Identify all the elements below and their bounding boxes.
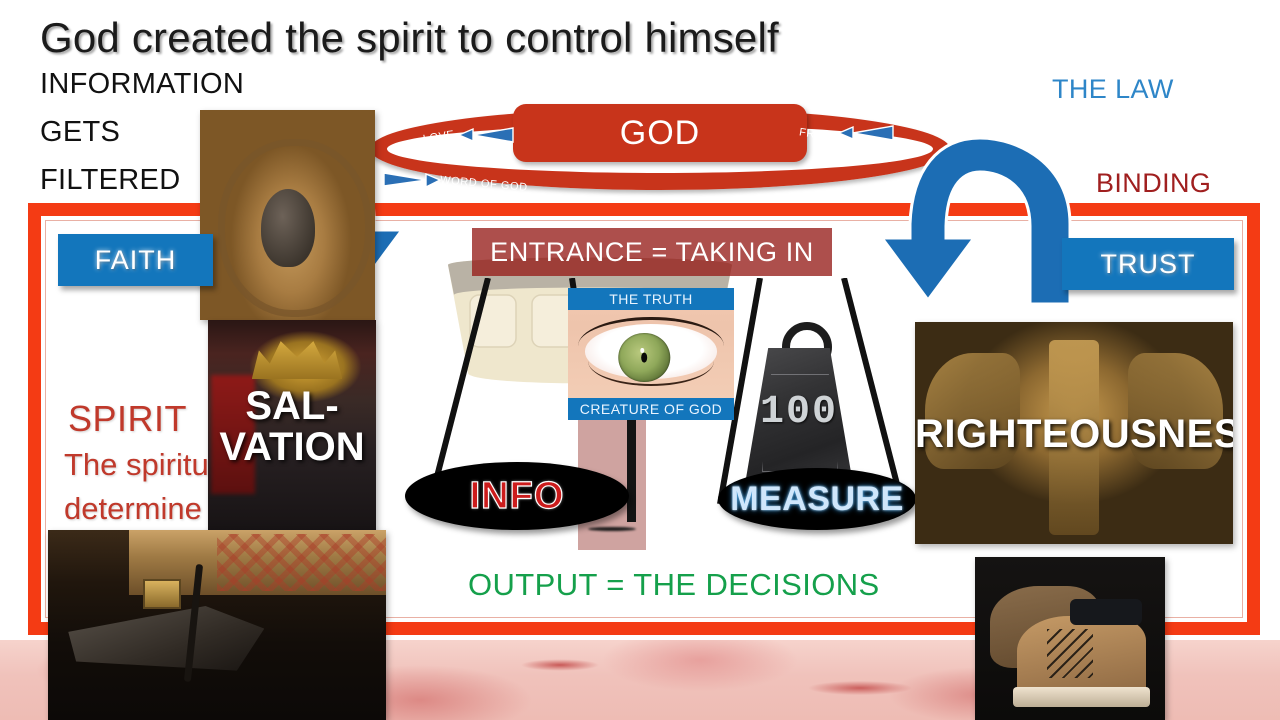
god-box-label: GOD <box>620 114 700 153</box>
label-binding: BINDING <box>1096 168 1211 199</box>
faith-label: FAITH <box>95 245 177 276</box>
sword-belt-photo <box>48 530 386 720</box>
shield-boss <box>261 189 315 267</box>
crown-shape <box>252 333 343 380</box>
eye-bottom-label: CREATURE OF GOD <box>568 398 734 420</box>
eye-group: THE TRUTH CREATURE OF GOD <box>568 288 734 420</box>
mouth-line <box>588 527 636 531</box>
boot-laces <box>1047 629 1093 678</box>
label-the-law: THE LAW <box>1052 74 1174 105</box>
belt-pattern <box>217 534 386 591</box>
eye-photo <box>568 310 734 398</box>
eye-top-label: THE TRUTH <box>568 288 734 310</box>
eye-glint <box>641 348 645 353</box>
measure-tag-label: MEASURE <box>730 480 904 519</box>
spirit-heading: SPIRIT <box>68 398 187 440</box>
righteousness-photo: RIGHTEOUSNESS <box>915 322 1233 544</box>
faith-label-box: FAITH <box>58 234 213 286</box>
slide-canvas: God created the spirit to control himsel… <box>0 0 1280 720</box>
label-information: INFORMATION <box>40 68 244 101</box>
righteousness-caption: RIGHTEOUSNESS <box>915 414 1233 455</box>
entrance-banner-label: ENTRANCE = TAKING IN <box>490 237 814 268</box>
entrance-banner: ENTRANCE = TAKING IN <box>472 228 832 276</box>
info-tag-label: INFO <box>470 475 565 518</box>
boot-sole <box>1013 687 1150 707</box>
info-tag: INFO <box>405 462 629 530</box>
page-title: God created the spirit to control himsel… <box>40 14 779 62</box>
output-label: OUTPUT = THE DECISIONS <box>468 567 880 603</box>
salvation-caption-line1: SAL- <box>208 386 376 427</box>
trust-label-box: TRUST <box>1062 238 1234 290</box>
label-filtered: FILTERED <box>40 164 180 197</box>
arrow-love-icon <box>455 124 515 146</box>
eye-upper-lash <box>578 317 724 346</box>
sword-blade <box>68 606 264 671</box>
boots-photo <box>975 557 1165 720</box>
measure-tag: MEASURE <box>718 468 916 530</box>
salvation-caption: SAL- VATION <box>208 386 376 468</box>
trust-label: TRUST <box>1101 249 1196 280</box>
shield-photo <box>200 110 375 320</box>
belt-buckle <box>143 579 181 609</box>
salvation-photo: SAL- VATION <box>208 320 376 532</box>
weight-value: 100 <box>744 390 854 435</box>
boot-cuff <box>1070 599 1142 625</box>
salvation-caption-line2: VATION <box>208 427 376 468</box>
god-box: GOD <box>513 104 807 162</box>
eye-lower-lash <box>588 361 714 386</box>
label-gets: GETS <box>40 116 120 149</box>
